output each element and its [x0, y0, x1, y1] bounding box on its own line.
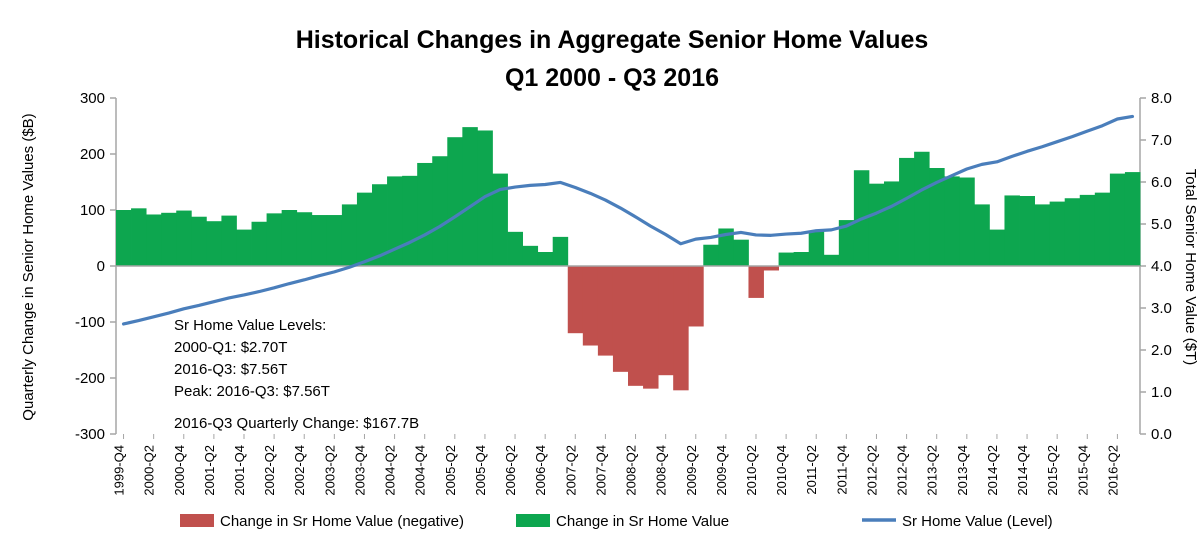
bar-2001-Q4: [236, 230, 251, 266]
chart-title: Historical Changes in Aggregate Senior H…: [296, 26, 929, 54]
x-tick-label: 2006-Q2: [503, 445, 518, 496]
bar-2014-Q4: [1020, 196, 1035, 266]
bar-2007-Q2: [568, 266, 583, 333]
bar-2012-Q4: [899, 158, 914, 266]
legend-swatch-2: [516, 514, 550, 527]
y-tick-label-right: 5.0: [1151, 216, 1172, 233]
bar-2005-Q1: [432, 156, 447, 266]
x-tick-label: 2012-Q2: [864, 445, 879, 496]
bar-2004-Q4: [417, 163, 432, 266]
bar-2001-Q3: [221, 216, 236, 266]
x-tick-label: 2005-Q2: [443, 445, 458, 496]
x-tick-label: 2009-Q2: [684, 445, 699, 496]
x-tick-label: 2014-Q4: [1015, 445, 1030, 496]
bar-2008-Q3: [643, 266, 658, 389]
bar-2003-Q3: [342, 204, 357, 266]
bar-2003-Q1: [312, 215, 327, 266]
x-tick-label: 2015-Q4: [1075, 445, 1090, 496]
chart-container: Historical Changes in Aggregate Senior H…: [0, 0, 1200, 542]
y-tick-label-left: -200: [75, 370, 105, 387]
bar-2002-Q4: [297, 212, 312, 266]
bar-2000-Q2: [146, 214, 161, 266]
x-tick-label: 2008-Q2: [624, 445, 639, 496]
bar-2015-Q2: [1050, 202, 1065, 266]
bar-2016-Q2: [1110, 174, 1125, 266]
x-tick-label: 2006-Q4: [533, 445, 548, 496]
y-tick-label-right: 2.0: [1151, 342, 1172, 359]
bar-2015-Q4: [1080, 195, 1095, 266]
x-tick-label: 2016-Q2: [1105, 445, 1120, 496]
chart-svg: Historical Changes in Aggregate Senior H…: [0, 0, 1200, 542]
x-tick-label: 2002-Q4: [292, 445, 307, 496]
x-tick-label: 2014-Q2: [985, 445, 1000, 496]
x-tick-label: 2001-Q2: [202, 445, 217, 496]
bar-2006-Q2: [508, 232, 523, 266]
bar-2010-Q4: [779, 253, 794, 266]
x-tick-label: 2004-Q2: [383, 445, 398, 496]
bar-2010-Q2: [748, 266, 763, 298]
y-tick-label-right: 4.0: [1151, 258, 1172, 275]
bar-2012-Q3: [884, 181, 899, 266]
bar-2001-Q2: [206, 221, 221, 266]
bar-2008-Q4: [658, 266, 673, 375]
bar-2013-Q3: [944, 176, 959, 266]
y-tick-label-right: 1.0: [1151, 384, 1172, 401]
bar-1999-Q4: [116, 210, 131, 266]
bar-2006-Q3: [523, 246, 538, 266]
legend-label-1: Change in Sr Home Value (negative): [220, 513, 464, 530]
y-tick-label-right: 6.0: [1151, 174, 1172, 191]
bar-2000-Q3: [161, 213, 176, 266]
bar-2009-Q1: [673, 266, 688, 390]
bar-2015-Q1: [1035, 204, 1050, 266]
x-tick-label: 2000-Q4: [172, 445, 187, 496]
bar-2011-Q3: [824, 255, 839, 266]
bar-2013-Q4: [959, 178, 974, 266]
x-tick-label: 2009-Q4: [714, 445, 729, 496]
bar-2008-Q1: [613, 266, 628, 372]
legend-label-3: Sr Home Value (Level): [902, 513, 1053, 530]
bar-2000-Q4: [176, 211, 191, 266]
y-tick-label-left: -100: [75, 314, 105, 331]
bar-2016-Q1: [1095, 193, 1110, 266]
bar-2004-Q3: [402, 176, 417, 266]
x-tick-label: 2002-Q2: [262, 445, 277, 496]
x-tick-label: 2012-Q4: [895, 445, 910, 496]
bar-2009-Q3: [703, 245, 718, 266]
bar-2007-Q4: [598, 266, 613, 356]
annotation-line-5: 2016-Q3 Quarterly Change: $167.7B: [174, 415, 419, 432]
bar-2003-Q2: [327, 215, 342, 266]
x-tick-label: 2000-Q2: [142, 445, 157, 496]
bar-2007-Q3: [583, 266, 598, 346]
x-tick-label: 2015-Q2: [1045, 445, 1060, 496]
y-tick-label-right: 8.0: [1151, 90, 1172, 107]
y-axis-title-right: Total Senior Home Value ($T): [1182, 169, 1199, 365]
annotation-line-2: 2000-Q1: $2.70T: [174, 339, 287, 356]
y-tick-label-left: 200: [80, 146, 105, 163]
x-tick-label: 2013-Q4: [955, 445, 970, 496]
annotation-line-1: Sr Home Value Levels:: [174, 317, 326, 334]
bar-2005-Q3: [462, 127, 477, 266]
bar-2000-Q1: [131, 208, 146, 266]
x-tick-label: 2013-Q2: [925, 445, 940, 496]
bar-2005-Q2: [447, 137, 462, 266]
x-tick-label: 2007-Q4: [593, 445, 608, 496]
y-tick-label-right: 0.0: [1151, 426, 1172, 443]
bar-2002-Q3: [282, 210, 297, 266]
y-tick-label-right: 3.0: [1151, 300, 1172, 317]
x-tick-label: 2003-Q2: [322, 445, 337, 496]
bar-2010-Q1: [733, 240, 748, 266]
bar-2011-Q1: [794, 252, 809, 266]
bar-2014-Q1: [974, 204, 989, 266]
x-tick-label: 2005-Q4: [473, 445, 488, 496]
x-tick-label: 2010-Q2: [744, 445, 759, 496]
y-tick-label-left: 0: [97, 258, 105, 275]
bar-2015-Q3: [1065, 198, 1080, 266]
bar-2001-Q1: [191, 217, 206, 266]
bar-2007-Q1: [553, 237, 568, 266]
x-tick-label: 2003-Q4: [352, 445, 367, 496]
bar-2009-Q2: [688, 266, 703, 326]
bar-2011-Q2: [809, 231, 824, 266]
y-tick-label-left: -300: [75, 426, 105, 443]
bar-2014-Q2: [989, 230, 1004, 266]
legend-label-2: Change in Sr Home Value: [556, 513, 729, 530]
y-tick-label-right: 7.0: [1151, 132, 1172, 149]
x-tick-label: 2011-Q2: [804, 445, 819, 495]
x-tick-label: 2007-Q2: [563, 445, 578, 496]
chart-legend: Change in Sr Home Value (negative)Change…: [180, 513, 1053, 530]
x-tick-label: 2004-Q4: [413, 445, 428, 496]
bar-2002-Q1: [252, 222, 267, 266]
bar-2016-Q3: [1125, 172, 1140, 266]
chart-subtitle: Q1 2000 - Q3 2016: [505, 64, 719, 92]
bar-2008-Q2: [628, 266, 643, 386]
bar-2014-Q3: [1004, 195, 1019, 266]
bar-2013-Q1: [914, 152, 929, 266]
annotation-line-3: 2016-Q3: $7.56T: [174, 361, 287, 378]
x-tick-label: 2011-Q4: [834, 445, 849, 495]
bar-2012-Q2: [869, 184, 884, 266]
x-tick-label: 1999-Q4: [112, 445, 127, 496]
annotation-line-4: Peak: 2016-Q3: $7.56T: [174, 383, 330, 400]
x-tick-label: 2001-Q4: [232, 445, 247, 496]
legend-swatch-1: [180, 514, 214, 527]
y-tick-label-left: 300: [80, 90, 105, 107]
y-tick-label-left: 100: [80, 202, 105, 219]
x-tick-label: 2010-Q4: [774, 445, 789, 496]
x-tick-label: 2008-Q4: [654, 445, 669, 496]
y-axis-title-left: Quarterly Change in Senior Home Values (…: [20, 113, 37, 420]
bar-2003-Q4: [357, 193, 372, 266]
bar-2002-Q2: [267, 213, 282, 266]
bar-2006-Q4: [538, 252, 553, 266]
